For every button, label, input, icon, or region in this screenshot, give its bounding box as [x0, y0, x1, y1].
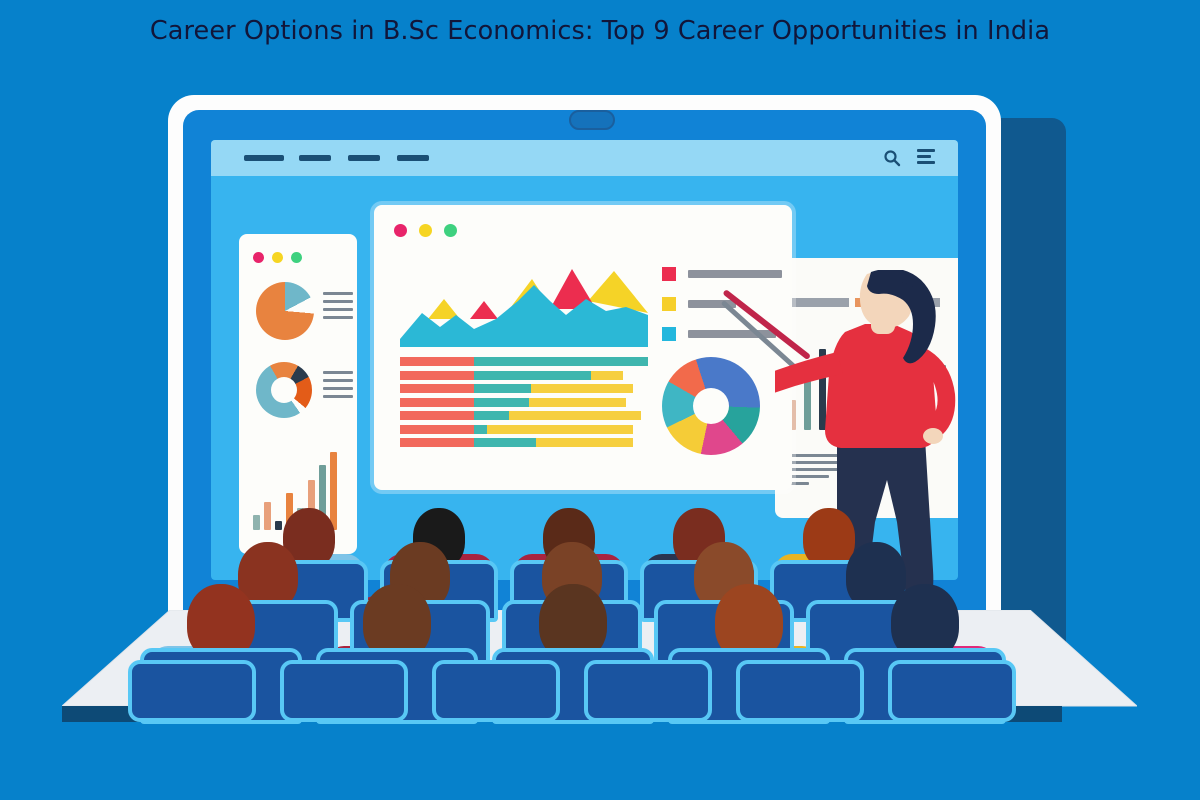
empty-seat[interactable]	[888, 660, 1016, 722]
text-line	[323, 371, 353, 374]
stacked-bar-segment	[400, 357, 474, 366]
stacked-bar-segment	[400, 438, 474, 447]
stacked-bar-segment	[487, 425, 633, 434]
browser-toolbar[interactable]	[211, 140, 958, 176]
stacked-bar-segment	[474, 438, 536, 447]
stacked-bar-row	[400, 357, 648, 366]
stacked-bar-segment	[400, 384, 474, 393]
stacked-bar-segment	[474, 425, 486, 434]
page-title: Career Options in B.Sc Economics: Top 9 …	[0, 0, 1200, 62]
stacked-bar-segment	[474, 371, 591, 380]
empty-seat[interactable]	[128, 660, 256, 722]
stacked-bar-row	[400, 411, 648, 420]
text-line	[323, 308, 353, 311]
text-line	[323, 387, 353, 390]
side-donut-chart	[256, 362, 312, 418]
left-dashboard-panel	[239, 234, 357, 554]
nav-item-2[interactable]	[299, 155, 331, 161]
window-dot-yellow[interactable]	[419, 224, 432, 237]
search-icon[interactable]	[883, 149, 901, 172]
empty-seat[interactable]	[432, 660, 560, 722]
main-dashboard-panel	[374, 205, 792, 490]
window-dot-red[interactable]	[394, 224, 407, 237]
webcam-icon	[569, 110, 615, 130]
empty-seat[interactable]	[584, 660, 712, 722]
poster-canvas: Career Options in B.Sc Economics: Top 9 …	[0, 0, 1200, 800]
text-line	[323, 300, 353, 303]
legend-row	[662, 267, 782, 281]
donut-chart	[662, 357, 760, 455]
window-dot-green[interactable]	[291, 252, 302, 263]
legend-label-bar	[688, 270, 782, 278]
text-line	[323, 292, 353, 295]
stacked-bar-segment	[531, 384, 633, 393]
stacked-bar-segment	[591, 371, 623, 380]
nav-item-1[interactable]	[244, 155, 284, 161]
empty-seat[interactable]	[280, 660, 408, 722]
audience-person-head	[803, 508, 855, 568]
text-line	[323, 316, 353, 319]
stacked-bar-segment	[474, 411, 509, 420]
stacked-bar-row	[400, 438, 648, 447]
stacked-bar-row	[400, 371, 648, 380]
nav-item-4[interactable]	[397, 155, 429, 161]
stacked-bar-chart	[400, 357, 648, 453]
stacked-bar-segment	[400, 411, 474, 420]
text-line	[323, 379, 353, 382]
stacked-bar-segment	[400, 398, 474, 407]
stacked-bar-row	[400, 425, 648, 434]
stacked-bar-segment	[400, 371, 474, 380]
empty-seat[interactable]	[736, 660, 864, 722]
stacked-bar-segment	[529, 398, 626, 407]
window-dot-red[interactable]	[253, 252, 264, 263]
legend-swatch-yellow	[662, 297, 676, 311]
legend-swatch-red	[662, 267, 676, 281]
stacked-bar-segment	[536, 438, 633, 447]
mini-bar	[330, 452, 337, 530]
area-chart	[400, 257, 648, 347]
stacked-bar-segment	[474, 384, 531, 393]
mini-bar	[264, 502, 271, 530]
text-line	[323, 395, 353, 398]
stacked-bar-segment	[509, 411, 640, 420]
stacked-bar-row	[400, 398, 648, 407]
window-dot-yellow[interactable]	[272, 252, 283, 263]
stacked-bar-row	[400, 384, 648, 393]
hamburger-menu-icon[interactable]	[917, 149, 935, 167]
side-pie-chart	[256, 282, 314, 340]
page-title-text: Career Options in B.Sc Economics: Top 9 …	[150, 16, 1050, 46]
mini-bar	[253, 515, 260, 530]
mini-bar	[275, 521, 282, 530]
stacked-bar-segment	[474, 357, 648, 366]
nav-item-3[interactable]	[348, 155, 380, 161]
window-dot-green[interactable]	[444, 224, 457, 237]
stacked-bar-segment	[400, 425, 474, 434]
stacked-bar-segment	[474, 398, 529, 407]
legend-swatch-cyan	[662, 327, 676, 341]
